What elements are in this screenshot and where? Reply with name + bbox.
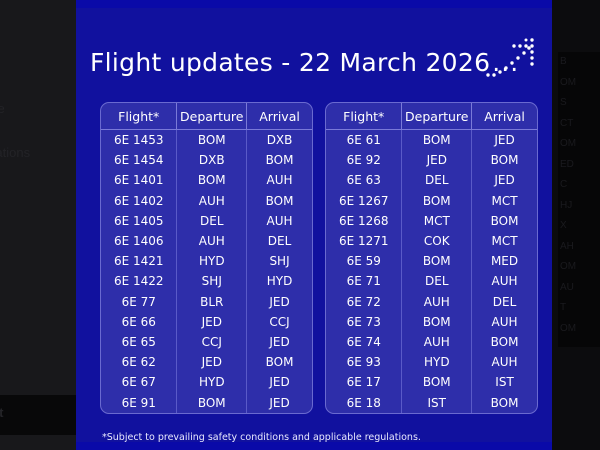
departure-code: AUH: [402, 332, 472, 352]
departure-code: AUH: [177, 231, 247, 251]
table-row: 6E 65CCJJED: [101, 332, 312, 352]
flight-number: 6E 74: [326, 332, 402, 352]
departure-code: DEL: [402, 271, 472, 291]
arrival-code: BOM: [472, 332, 537, 352]
table-row: 6E 61BOMJED: [326, 130, 537, 151]
column-header-flight: Flight*: [101, 103, 177, 130]
table-row: 6E 71DELAUH: [326, 271, 537, 291]
table-header-row: Flight* Departure Arrival: [101, 103, 312, 130]
flight-number: 6E 17: [326, 372, 402, 392]
backdrop-right-line: C: [560, 175, 600, 196]
table-header-row: Flight* Departure Arrival: [326, 103, 537, 130]
backdrop-sidebar: e ore ications w le ≡: [0, 0, 80, 450]
departure-code: BLR: [177, 292, 247, 312]
table-row: 6E 1268MCTBOM: [326, 211, 537, 231]
arrival-code: AUH: [472, 312, 537, 332]
departure-code: BOM: [402, 191, 472, 211]
table-row: 6E 17BOMIST: [326, 372, 537, 392]
table-row: 6E 63DELJED: [326, 170, 537, 190]
departure-code: DEL: [402, 170, 472, 190]
departure-code: CCJ: [177, 332, 247, 352]
departure-code: AUH: [402, 292, 472, 312]
backdrop-right-line: CT: [560, 114, 600, 135]
table-row: 6E 66JEDCCJ: [101, 312, 312, 332]
table-row: 6E 1406AUHDEL: [101, 231, 312, 251]
flight-table-left-body: 6E 1453BOMDXB6E 1454DXBBOM6E 1401BOMAUH6…: [101, 130, 312, 413]
departure-code: HYD: [177, 251, 247, 271]
table-row: 6E 1454DXBBOM: [101, 150, 312, 170]
column-header-departure: Departure: [402, 103, 472, 130]
column-header-arrival: Arrival: [247, 103, 312, 130]
flight-number: 6E 18: [326, 392, 402, 412]
table-row: 6E 1405DELAUH: [101, 211, 312, 231]
departure-code: JED: [177, 352, 247, 372]
departure-code: JED: [177, 312, 247, 332]
flight-number: 6E 59: [326, 251, 402, 271]
arrival-code: JED: [472, 170, 537, 190]
backdrop-sidebar-item[interactable]: e: [0, 58, 80, 73]
flight-number: 6E 1453: [101, 130, 177, 151]
departure-code: COK: [402, 231, 472, 251]
departure-code: BOM: [402, 372, 472, 392]
arrival-code: JED: [247, 372, 312, 392]
arrival-code: DEL: [247, 231, 312, 251]
departure-code: DXB: [177, 150, 247, 170]
table-row: 6E 77BLRJED: [101, 292, 312, 312]
arrival-code: AUH: [247, 170, 312, 190]
backdrop-sidebar-item[interactable]: le: [0, 310, 80, 325]
backdrop-right-panel: B OM S CT OM ED C HJ X AH OM AU T OM: [558, 52, 600, 347]
table-row: 6E 67HYDJED: [101, 372, 312, 392]
flight-number: 6E 1406: [101, 231, 177, 251]
departure-code: DEL: [177, 211, 247, 231]
table-row: 6E 62JEDBOM: [101, 352, 312, 372]
table-row: 6E 1422SHJHYD: [101, 271, 312, 291]
flight-number: 6E 1271: [326, 231, 402, 251]
backdrop-right-line: HJ: [560, 196, 600, 217]
backdrop-sidebar-footer[interactable]: ost: [0, 395, 80, 435]
arrival-code: DEL: [472, 292, 537, 312]
arrival-code: HYD: [247, 271, 312, 291]
arrival-code: BOM: [472, 211, 537, 231]
table-row: 6E 18ISTBOM: [326, 392, 537, 412]
arrival-code: BOM: [247, 191, 312, 211]
table-row: 6E 1421HYDSHJ: [101, 251, 312, 271]
backdrop-sidebar-item[interactable]: ications: [0, 145, 80, 160]
backdrop-right-line: OM: [560, 319, 600, 340]
column-header-arrival: Arrival: [472, 103, 537, 130]
arrival-code: SHJ: [247, 251, 312, 271]
backdrop-right-line: AU: [560, 278, 600, 299]
flight-number: 6E 1401: [101, 170, 177, 190]
departure-code: BOM: [177, 170, 247, 190]
arrival-code: JED: [247, 292, 312, 312]
table-row: 6E 59BOMMED: [326, 251, 537, 271]
flight-updates-slide: Flight updates - 22 March 2026 ...: [76, 0, 552, 450]
backdrop-right-line: S: [560, 93, 600, 114]
departure-code: IST: [402, 392, 472, 412]
backdrop-sidebar-menu-icon[interactable]: ≡: [0, 352, 80, 367]
backdrop-sidebar-item[interactable]: w: [0, 190, 80, 205]
arrival-code: AUH: [472, 271, 537, 291]
flight-table-right: Flight* Departure Arrival 6E 61BOMJED6E …: [326, 103, 537, 413]
flight-number: 6E 73: [326, 312, 402, 332]
arrival-code: BOM: [472, 392, 537, 412]
backdrop-right-line: B: [560, 52, 600, 73]
page-title: Flight updates - 22 March 2026: [90, 48, 490, 77]
column-header-departure: Departure: [177, 103, 247, 130]
table-row: 6E 1453BOMDXB: [101, 130, 312, 151]
flight-number: 6E 65: [101, 332, 177, 352]
flight-number: 6E 1422: [101, 271, 177, 291]
table-row: 6E 1402AUHBOM: [101, 191, 312, 211]
departure-code: SHJ: [177, 271, 247, 291]
backdrop-right-line: AH: [560, 237, 600, 258]
departure-code: JED: [402, 150, 472, 170]
table-row: 6E 1401BOMAUH: [101, 170, 312, 190]
flight-number: 6E 91: [101, 392, 177, 412]
flight-number: 6E 1402: [101, 191, 177, 211]
departure-code: BOM: [402, 312, 472, 332]
flight-number: 6E 1421: [101, 251, 177, 271]
dotted-arrow-up-right-icon: [484, 34, 536, 84]
flight-number: 6E 1268: [326, 211, 402, 231]
flight-number: 6E 92: [326, 150, 402, 170]
title-row: Flight updates - 22 March 2026 ...: [90, 38, 540, 86]
departure-code: HYD: [177, 372, 247, 392]
flight-number: 6E 61: [326, 130, 402, 151]
arrival-code: AUH: [247, 211, 312, 231]
slide-canvas: Flight updates - 22 March 2026 ...: [76, 8, 552, 442]
flight-table-left-panel: Flight* Departure Arrival 6E 1453BOMDXB6…: [100, 102, 313, 414]
flight-table-right-panel: Flight* Departure Arrival 6E 61BOMJED6E …: [325, 102, 538, 414]
backdrop-right-line: ED: [560, 155, 600, 176]
table-row: 6E 72AUHDEL: [326, 292, 537, 312]
backdrop-right-line: OM: [560, 73, 600, 94]
flight-table-right-body: 6E 61BOMJED6E 92JEDBOM6E 63DELJED6E 1267…: [326, 130, 537, 413]
arrival-code: MCT: [472, 191, 537, 211]
arrival-code: BOM: [247, 352, 312, 372]
flight-number: 6E 1454: [101, 150, 177, 170]
backdrop-right-line: OM: [560, 134, 600, 155]
table-row: 6E 73BOMAUH: [326, 312, 537, 332]
arrival-code: CCJ: [247, 312, 312, 332]
departure-code: MCT: [402, 211, 472, 231]
table-row: 6E 74AUHBOM: [326, 332, 537, 352]
flight-number: 6E 67: [101, 372, 177, 392]
flight-number: 6E 63: [326, 170, 402, 190]
departure-code: AUH: [177, 191, 247, 211]
flight-table-left: Flight* Departure Arrival 6E 1453BOMDXB6…: [101, 103, 312, 413]
departure-code: BOM: [177, 130, 247, 151]
departure-code: BOM: [402, 130, 472, 151]
flight-number: 6E 72: [326, 292, 402, 312]
arrival-code: BOM: [247, 150, 312, 170]
table-row: 6E 92JEDBOM: [326, 150, 537, 170]
backdrop-right-line: T: [560, 298, 600, 319]
flight-number: 6E 66: [101, 312, 177, 332]
flight-number: 6E 1405: [101, 211, 177, 231]
arrival-code: MCT: [472, 231, 537, 251]
flight-number: 6E 77: [101, 292, 177, 312]
flight-number: 6E 93: [326, 352, 402, 372]
column-header-flight: Flight*: [326, 103, 402, 130]
backdrop-sidebar-item[interactable]: ore: [0, 101, 80, 116]
arrival-code: MED: [472, 251, 537, 271]
arrival-code: JED: [247, 332, 312, 352]
table-row: 6E 1271COKMCT: [326, 231, 537, 251]
backdrop-right-line: OM: [560, 257, 600, 278]
flight-number: 6E 1267: [326, 191, 402, 211]
footnote: *Subject to prevailing safety conditions…: [102, 432, 421, 443]
backdrop-right-line: X: [560, 216, 600, 237]
arrival-code: JED: [472, 130, 537, 151]
table-row: 6E 1267BOMMCT: [326, 191, 537, 211]
departure-code: BOM: [402, 251, 472, 271]
departure-code: HYD: [402, 352, 472, 372]
table-row: 6E 91BOMJED: [101, 392, 312, 412]
table-row: 6E 93HYDAUH: [326, 352, 537, 372]
arrival-code: DXB: [247, 130, 312, 151]
backdrop-sidebar-footer-label: ost: [0, 405, 4, 420]
flight-number: 6E 71: [326, 271, 402, 291]
arrival-code: JED: [247, 392, 312, 412]
arrival-code: AUH: [472, 352, 537, 372]
departure-code: BOM: [177, 392, 247, 412]
arrival-code: BOM: [472, 150, 537, 170]
arrival-code: IST: [472, 372, 537, 392]
flight-number: 6E 62: [101, 352, 177, 372]
